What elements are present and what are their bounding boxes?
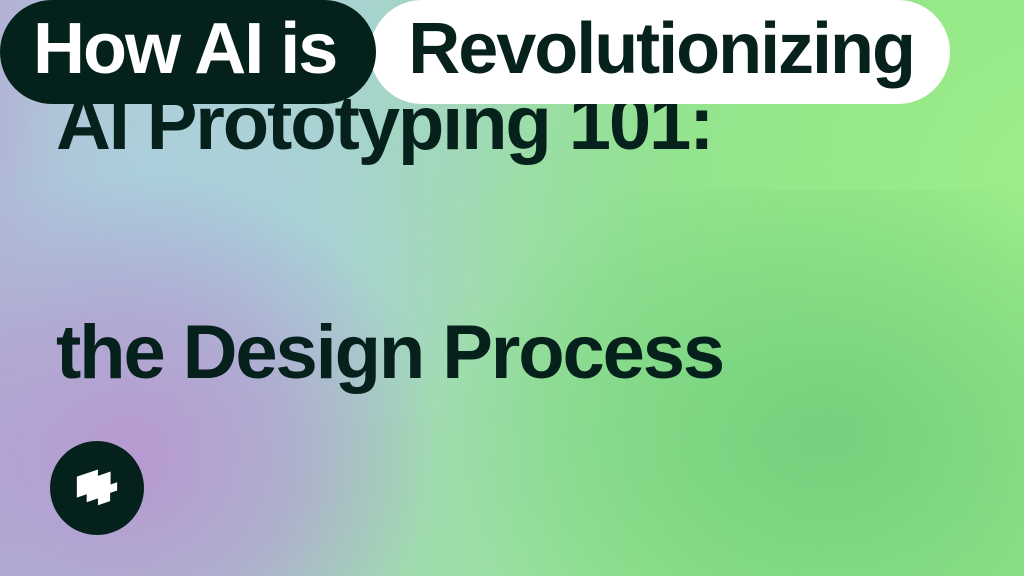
brand-logo	[50, 441, 144, 535]
headline-line-3: the Design Process	[56, 315, 723, 391]
headline-pill-light: Revolutionizing	[370, 0, 950, 104]
card-content: AI Prototyping 101: How AI is Revolution…	[0, 0, 1024, 576]
bolt-icon	[67, 458, 127, 518]
headline-pill-dark: How AI is	[0, 0, 376, 104]
headline-line-2: How AI is Revolutionizing	[0, 0, 1024, 104]
headline-block: AI Prototyping 101: How AI is Revolution…	[0, 0, 1024, 104]
